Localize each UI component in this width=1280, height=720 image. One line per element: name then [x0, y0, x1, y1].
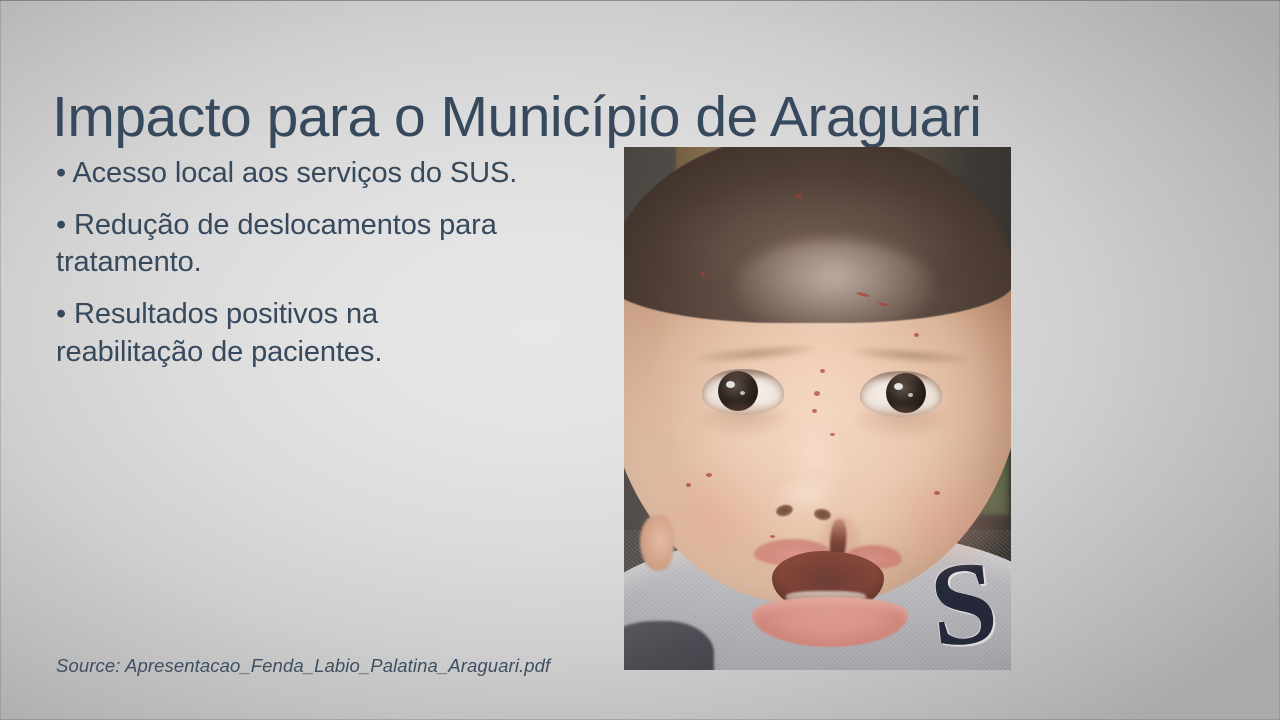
- photo-forehead-highlight: [734, 239, 934, 335]
- photo-eye-glint: [740, 391, 745, 395]
- photo-skin-mark: [770, 535, 775, 538]
- patient-photo: S: [624, 147, 1011, 670]
- photo-skin-mark: [934, 491, 940, 495]
- photo-eyelid-left: [702, 369, 784, 380]
- photo-eye-glint: [894, 383, 903, 390]
- photo-skin-mark: [814, 391, 820, 396]
- photo-eyelid-right: [860, 371, 942, 382]
- presentation-slide: Impacto para o Município de Araguari • A…: [0, 0, 1280, 720]
- bullet-list: • Acesso local aos serviços do SUS. • Re…: [56, 155, 526, 371]
- photo-skin-mark: [686, 483, 691, 487]
- page-title: Impacto para o Município de Araguari: [52, 86, 1232, 150]
- photo-skin-mark: [706, 473, 712, 477]
- photo-undereye-left: [698, 405, 790, 435]
- list-item: • Resultados positivos na reabilitação d…: [56, 296, 526, 371]
- photo-canvas: S: [624, 147, 1011, 670]
- photo-skin-mark: [914, 333, 919, 337]
- photo-skin-mark: [820, 369, 825, 373]
- list-item: • Redução de deslocamentos para tratamen…: [56, 207, 526, 282]
- photo-eye-glint: [908, 393, 913, 397]
- photo-undereye-right: [856, 407, 948, 437]
- list-item: • Acesso local aos serviços do SUS.: [56, 155, 526, 193]
- photo-skin-mark: [830, 433, 835, 436]
- photo-eye-glint: [726, 381, 735, 388]
- photo-skin-mark: [812, 409, 817, 413]
- source-citation: Source: Apresentacao_Fenda_Labio_Palatin…: [56, 655, 550, 677]
